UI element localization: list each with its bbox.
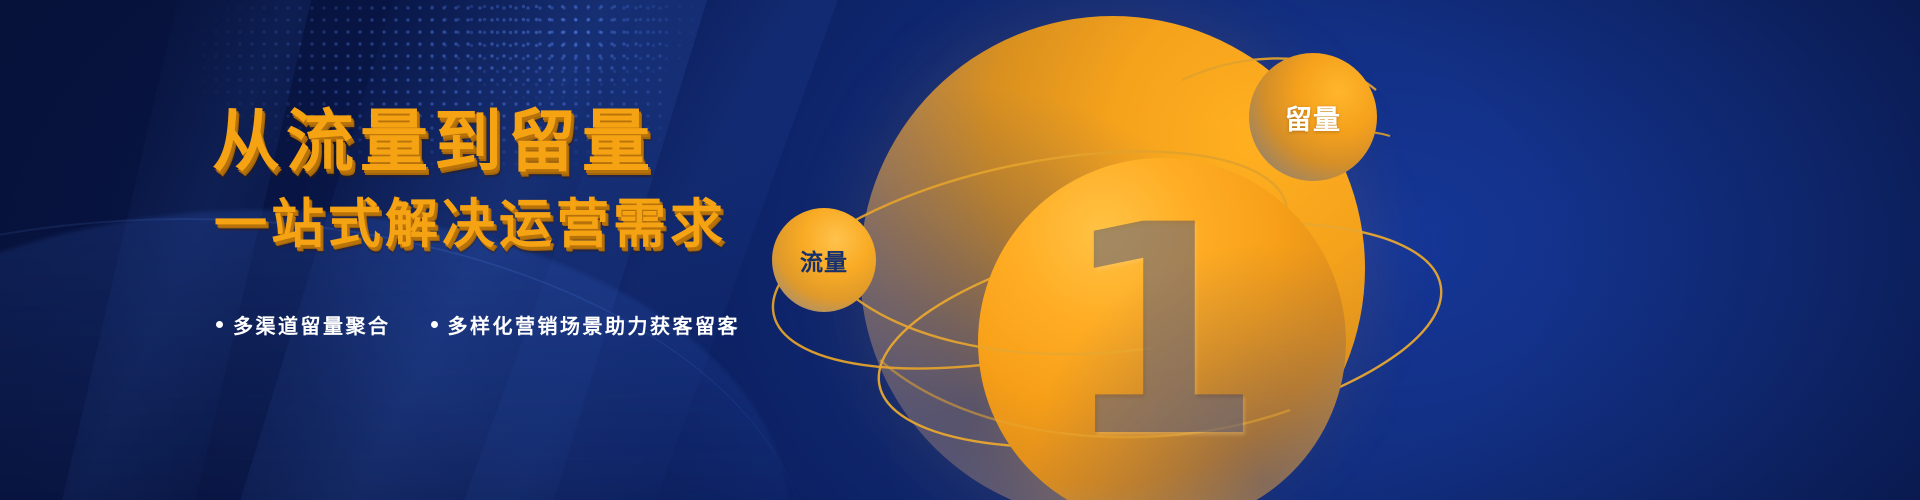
bullet-item: 多渠道留量聚合 xyxy=(216,310,391,339)
bullet-label: 多渠道留量聚合 xyxy=(233,310,391,339)
numeral-one: 1 xyxy=(978,188,1346,478)
feature-bullets: 多渠道留量聚合 多样化营销场景助力获客留客 xyxy=(216,310,740,339)
sphere-label-stay: 留量 xyxy=(1249,53,1377,181)
bullet-label: 多样化营销场景助力获客留客 xyxy=(448,310,741,339)
bullet-item: 多样化营销场景助力获客留客 xyxy=(431,310,741,339)
sphere-stay-label: 留量 xyxy=(1285,98,1341,137)
bullet-dot-icon xyxy=(216,321,223,328)
bullet-dot-icon xyxy=(431,321,438,328)
numeral-sphere: 1 xyxy=(978,158,1346,500)
copy-block: 从流量到留量 一站式解决运营需求 xyxy=(212,108,912,251)
headline: 从流量到留量 xyxy=(212,108,912,176)
promo-banner: 1 流量 留量 从流量到留量 一站式解决运营需求 多渠道留量聚合 多样化营销场景… xyxy=(0,0,1920,500)
subheadline: 一站式解决运营需求 xyxy=(214,198,912,251)
